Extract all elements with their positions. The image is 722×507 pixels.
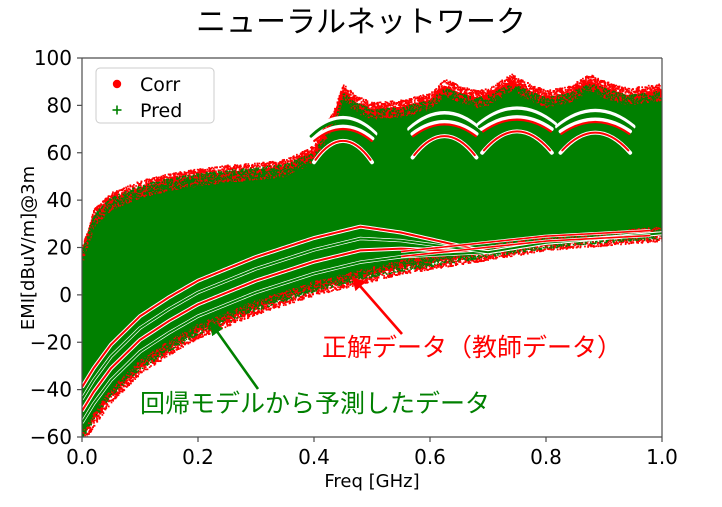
y-tick-label: −20 — [30, 330, 72, 354]
x-tick-label: 0.4 — [298, 445, 330, 469]
legend[interactable]: Corr Pred — [96, 68, 214, 123]
y-tick-label: 80 — [47, 93, 72, 117]
prediction-annotation-text: 回帰モデルから予測したデータ — [140, 389, 490, 418]
x-tick-label: 0.0 — [66, 445, 98, 469]
legend-label-corr: Corr — [140, 74, 180, 96]
x-tick-label: 0.2 — [182, 445, 214, 469]
y-tick-label: 100 — [34, 46, 72, 70]
chart-plot: 100806040200−20−40−60 0.00.20.40.60.81.0… — [0, 0, 722, 507]
y-tick-label: 0 — [59, 283, 72, 307]
x-tick-label: 0.6 — [414, 445, 446, 469]
x-tick-label: 1.0 — [646, 445, 678, 469]
x-axis-ticks: 0.00.20.40.60.81.0 — [66, 437, 678, 469]
y-tick-label: −40 — [30, 378, 72, 402]
y-tick-label: 60 — [47, 141, 72, 165]
legend-marker-corr-icon — [113, 80, 121, 88]
legend-label-pred: Pred — [140, 100, 182, 122]
x-axis-label: Freq [GHz] — [324, 471, 419, 492]
x-tick-label: 0.8 — [530, 445, 562, 469]
y-tick-label: 40 — [47, 188, 72, 212]
y-tick-label: 20 — [47, 236, 72, 260]
y-axis-label: EMI[dBuV/m]@3m — [18, 166, 39, 330]
ground-truth-annotation-text: 正解データ（教師データ） — [322, 333, 622, 362]
figure-canvas: ニューラルネットワーク 100806040200−20−4 — [0, 0, 722, 507]
